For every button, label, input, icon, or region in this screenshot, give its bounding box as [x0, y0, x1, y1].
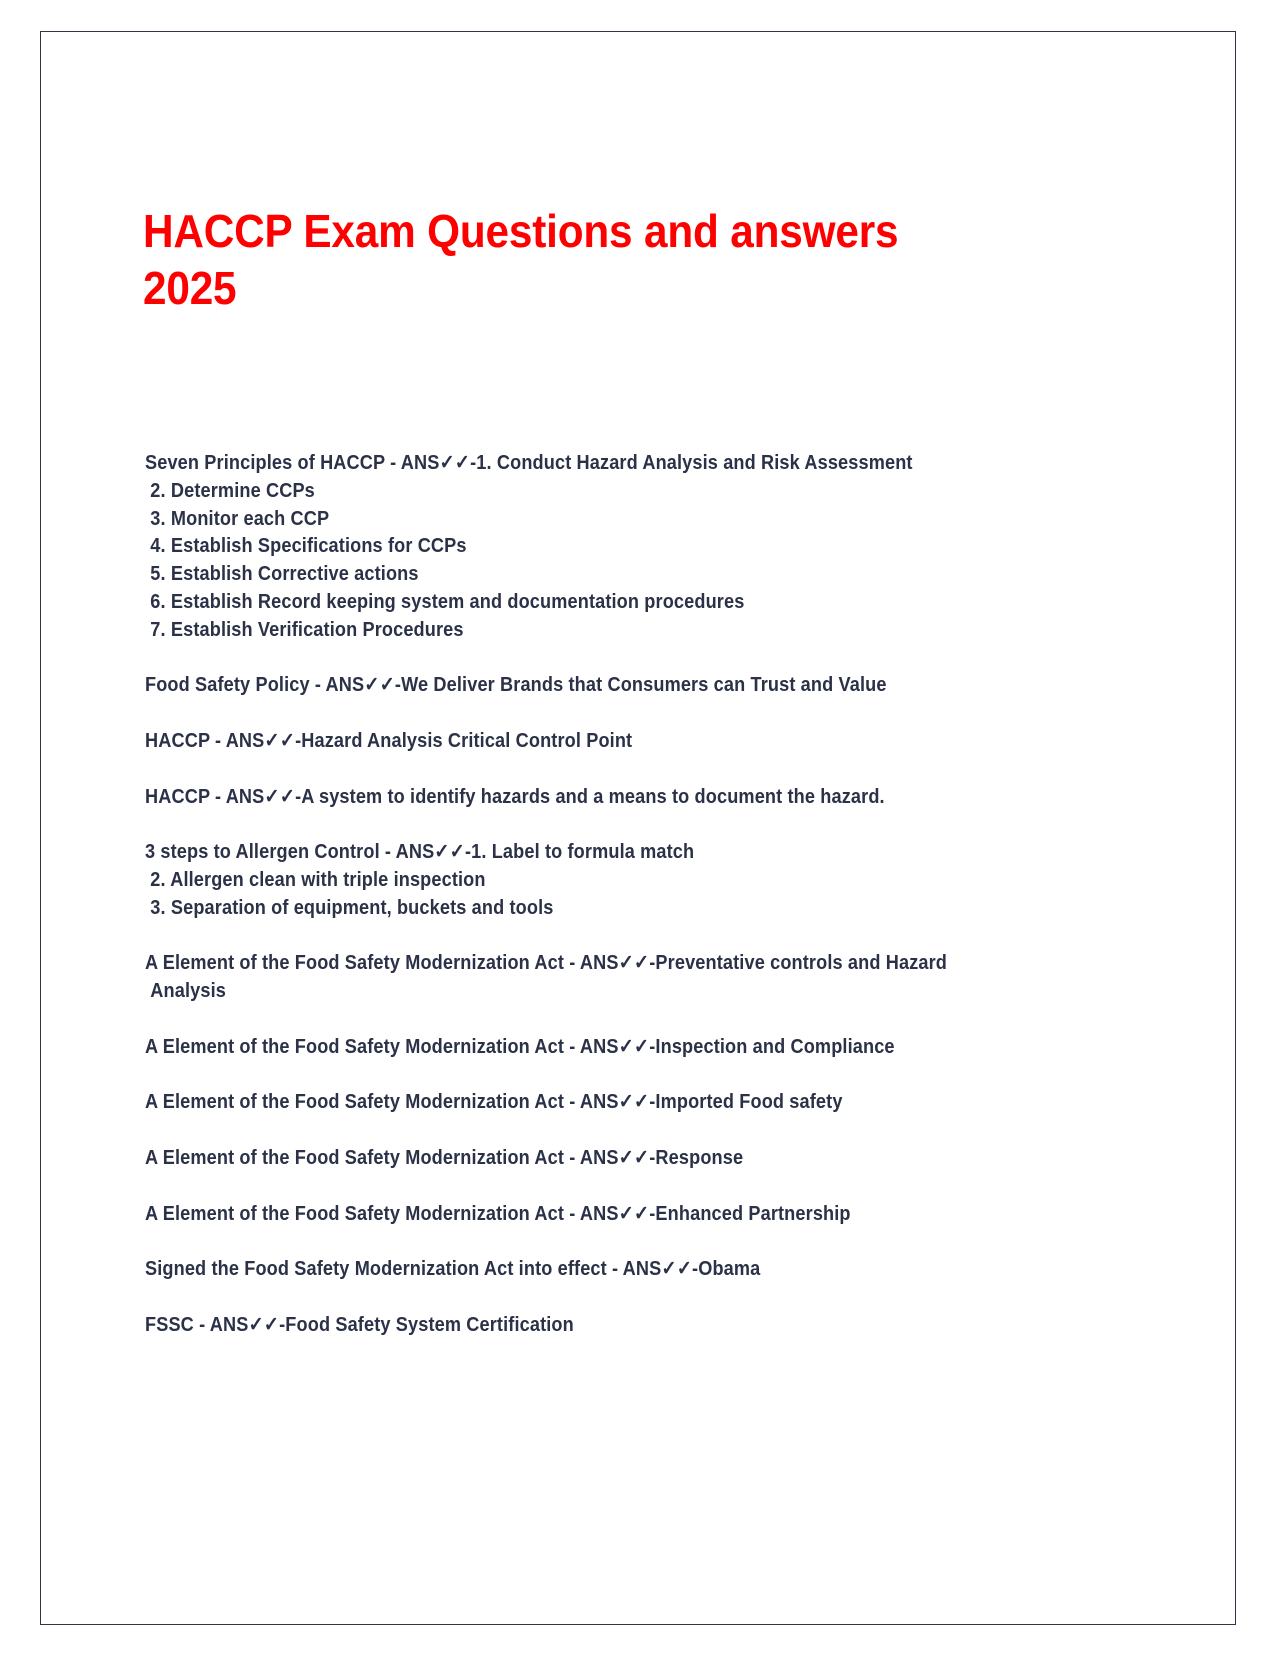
page-title-line: HACCP Exam Questions and answers [143, 205, 898, 257]
qa-content-body: Seven Principles of HACCP - ANS✓✓-1. Con… [145, 449, 995, 1339]
qa-question-answer-line: A Element of the Food Safety Modernizati… [145, 1033, 995, 1061]
qa-group: A Element of the Food Safety Modernizati… [145, 1144, 995, 1172]
qa-question-answer-line: Seven Principles of HACCP - ANS✓✓-1. Con… [145, 449, 995, 477]
qa-group: 3 steps to Allergen Control - ANS✓✓-1. L… [145, 838, 995, 921]
qa-group: A Element of the Food Safety Modernizati… [145, 1088, 995, 1116]
qa-continuation-line: 2. Allergen clean with triple inspection [145, 866, 995, 894]
qa-group: HACCP - ANS✓✓-Hazard Analysis Critical C… [145, 727, 995, 755]
qa-group: FSSC - ANS✓✓-Food Safety System Certific… [145, 1311, 995, 1339]
qa-question-answer-line: A Element of the Food Safety Modernizati… [145, 949, 995, 1005]
qa-question-answer-line: Signed the Food Safety Modernization Act… [145, 1255, 995, 1283]
qa-group: A Element of the Food Safety Modernizati… [145, 1200, 995, 1228]
qa-continuation-line: 3. Separation of equipment, buckets and … [145, 894, 995, 922]
qa-continuation-line: 7. Establish Verification Procedures [145, 616, 995, 644]
qa-question-answer-line: 3 steps to Allergen Control - ANS✓✓-1. L… [145, 838, 995, 866]
qa-continuation-line: 2. Determine CCPs [145, 477, 995, 505]
qa-question-answer-line: A Element of the Food Safety Modernizati… [145, 1088, 995, 1116]
qa-question-answer-line: HACCP - ANS✓✓-A system to identify hazar… [145, 783, 995, 811]
qa-question-answer-line: Food Safety Policy - ANS✓✓-We Deliver Br… [145, 671, 995, 699]
page-content-area: HACCP Exam Questions and answers2025 Sev… [41, 32, 1235, 1624]
qa-group: A Element of the Food Safety Modernizati… [145, 949, 995, 1005]
qa-group: Signed the Food Safety Modernization Act… [145, 1255, 995, 1283]
page-title: HACCP Exam Questions and answers2025 [143, 203, 934, 317]
qa-continuation-line: 6. Establish Record keeping system and d… [145, 588, 995, 616]
qa-continuation-line: 5. Establish Corrective actions [145, 560, 995, 588]
qa-group: Food Safety Policy - ANS✓✓-We Deliver Br… [145, 671, 995, 699]
document-page: HACCP Exam Questions and answers2025 Sev… [40, 31, 1236, 1625]
qa-question-answer-line: A Element of the Food Safety Modernizati… [145, 1144, 995, 1172]
qa-group: A Element of the Food Safety Modernizati… [145, 1033, 995, 1061]
qa-question-answer-line: A Element of the Food Safety Modernizati… [145, 1200, 995, 1228]
qa-group: Seven Principles of HACCP - ANS✓✓-1. Con… [145, 449, 995, 644]
qa-question-answer-line: HACCP - ANS✓✓-Hazard Analysis Critical C… [145, 727, 995, 755]
qa-continuation-line: 4. Establish Specifications for CCPs [145, 532, 995, 560]
page-title-line: 2025 [143, 262, 236, 314]
qa-continuation-line: 3. Monitor each CCP [145, 505, 995, 533]
qa-group: HACCP - ANS✓✓-A system to identify hazar… [145, 783, 995, 811]
qa-question-answer-line: FSSC - ANS✓✓-Food Safety System Certific… [145, 1311, 995, 1339]
